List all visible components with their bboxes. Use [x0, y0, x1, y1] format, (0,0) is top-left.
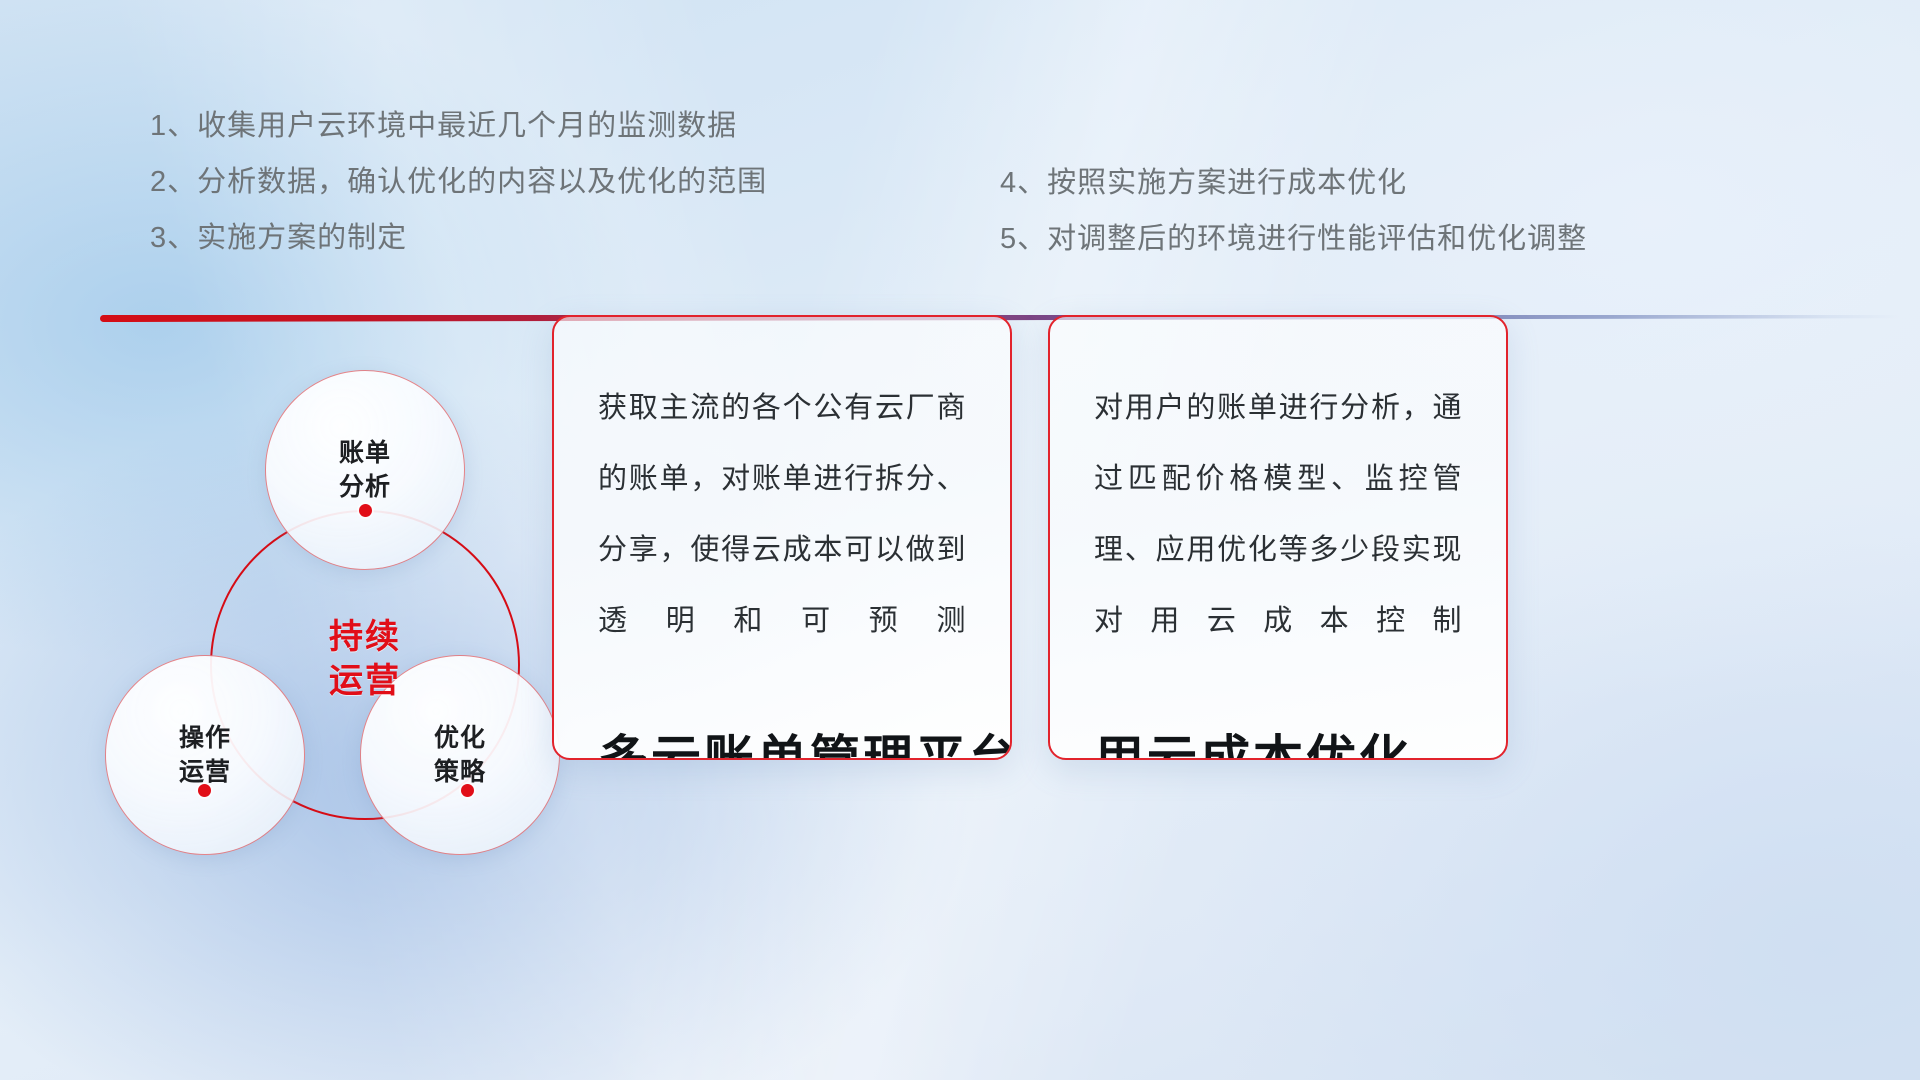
lobe-operation[interactable]: 操作运营 — [105, 655, 305, 855]
step-item-1: 1、收集用户云环境中最近几个月的监测数据 — [150, 98, 767, 154]
card-1-body: 获取主流的各个公有云厂商的账单，对账单进行拆分、分享，使得云成本可以做到透明和可… — [598, 373, 966, 657]
step-item-4: 4、按照实施方案进行成本优化 — [1000, 155, 1587, 211]
step-item-3: 3、实施方案的制定 — [150, 210, 767, 266]
lobe-operation-label: 操作运营 — [179, 721, 231, 789]
card-cloud-cost-optimization[interactable]: 对用户的账单进行分析，通过匹配价格模型、监控管理、应用优化等多少段实现对用云成本… — [1048, 315, 1508, 760]
connector-dot-top — [359, 504, 372, 517]
step-item-5: 5、对调整后的环境进行性能评估和优化调整 — [1000, 211, 1587, 267]
card-1-title: 多云账单管理平台 — [598, 719, 966, 760]
card-multicloud-billing[interactable]: 获取主流的各个公有云厂商的账单，对账单进行拆分、分享，使得云成本可以做到透明和可… — [552, 315, 1012, 760]
center-label-line2: 运营 — [329, 662, 401, 700]
lobe-optimization-strategy-label: 优化策略 — [434, 721, 486, 789]
slide-canvas: 1、收集用户云环境中最近几个月的监测数据 2、分析数据，确认优化的内容以及优化的… — [0, 0, 1920, 1080]
card-2-body: 对用户的账单进行分析，通过匹配价格模型、监控管理、应用优化等多少段实现对用云成本… — [1094, 373, 1462, 657]
diagram-center-label: 持续 运营 — [285, 615, 445, 703]
lobe-bill-analysis[interactable]: 账单分析 — [265, 370, 465, 570]
connector-dot-left — [198, 784, 211, 797]
connector-dot-right — [461, 784, 474, 797]
step-item-2: 2、分析数据，确认优化的内容以及优化的范围 — [150, 154, 767, 210]
steps-right-column: 4、按照实施方案进行成本优化 5、对调整后的环境进行性能评估和优化调整 — [1000, 155, 1587, 267]
card-2-title: 用云成本优化 — [1094, 719, 1462, 760]
steps-left-column: 1、收集用户云环境中最近几个月的监测数据 2、分析数据，确认优化的内容以及优化的… — [150, 98, 767, 266]
lobe-bill-analysis-label: 账单分析 — [339, 436, 391, 504]
center-label-line1: 持续 — [329, 618, 401, 656]
